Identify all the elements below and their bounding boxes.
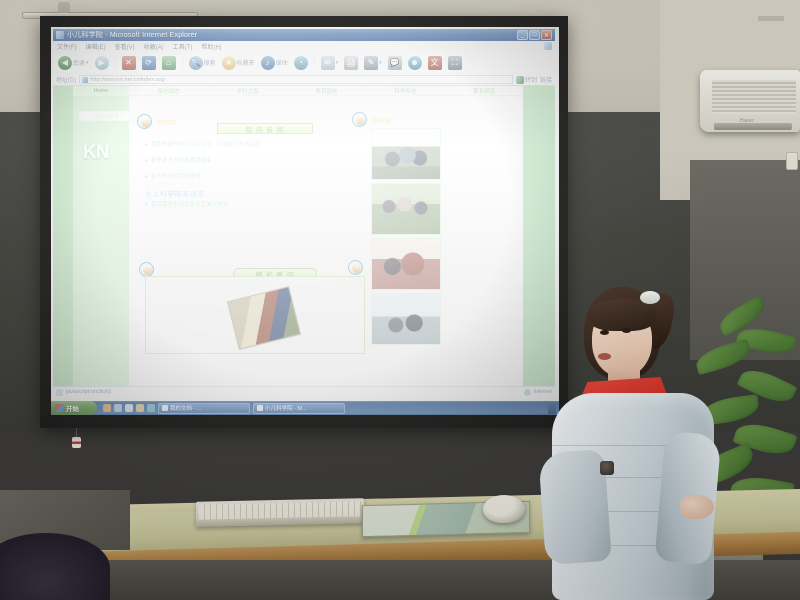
hand-on-mouse: [680, 495, 714, 519]
fullscreen-icon: ⛶: [448, 56, 462, 70]
keyboard[interactable]: [196, 498, 364, 527]
taskbar-item-label: 小儿科学院 - M...: [265, 404, 307, 412]
go-arrow-icon: [516, 76, 524, 84]
favorites-label: 收藏夹: [237, 58, 255, 67]
search-icon: 🔍: [189, 56, 203, 70]
toolbar-edit-button[interactable]: ✎ ▾: [362, 56, 384, 70]
search-label: 搜索: [204, 58, 216, 67]
discuss-icon: 💬: [388, 56, 402, 70]
stop-icon: ✕: [122, 56, 136, 70]
jacket-badge: [600, 461, 614, 475]
toolbar-separator: [314, 56, 315, 70]
ie-menu-bar: 文件(F) 编辑(E) 查看(V) 收藏(A) 工具(T) 帮助(H): [53, 41, 555, 52]
hair-scrunchie: [640, 291, 660, 304]
air-conditioner-icon: Haier: [700, 70, 800, 132]
photo-hands-up[interactable]: [371, 293, 441, 345]
menu-file[interactable]: 文件(F): [57, 42, 77, 51]
status-page-icon: [56, 389, 63, 396]
history-icon: ◔: [294, 56, 308, 70]
eye-left: [600, 330, 609, 335]
links-button[interactable]: 链接: [540, 75, 552, 84]
windows-flag-icon: [55, 404, 63, 412]
menu-help[interactable]: 帮助(H): [201, 42, 221, 51]
edit-caret-icon[interactable]: ▾: [379, 60, 382, 66]
start-button[interactable]: 开始: [51, 401, 97, 415]
mascot-left-top-label: 院内动态: [157, 119, 177, 126]
nav-item-subjects[interactable]: 学科之窗: [208, 87, 287, 95]
bullet-icon: ●: [145, 202, 148, 208]
toolbar-history-button[interactable]: ◔: [292, 56, 310, 70]
news-section-banner: 院 内 新 闻: [217, 123, 313, 134]
nav-item-home[interactable]: Home: [73, 86, 129, 96]
favorites-star-icon: ★: [222, 56, 236, 70]
translate-icon: 文: [428, 56, 442, 70]
messenger-icon: ☻: [408, 56, 422, 70]
media-label: 媒体: [276, 58, 288, 67]
toolbar-print-button[interactable]: 🖨: [342, 56, 360, 70]
photo-classroom-activity[interactable]: [371, 238, 441, 290]
featured-artwork-photo[interactable]: [227, 286, 301, 350]
ie-status-bar: javascript:onclick() Internet: [53, 386, 555, 397]
folder-icon[interactable]: [136, 404, 144, 412]
projection-screen-surface: 小儿科学院 - Microsoft Internet Explorer _ □ …: [51, 27, 559, 415]
address-url-text: http://www.kn.net.cn/index.asp: [90, 77, 164, 83]
bullet-icon: ●: [145, 174, 148, 180]
mascot-right-top-label[interactable]: 更多内容: [371, 117, 391, 124]
photo-nature-exploration[interactable]: [371, 183, 441, 235]
internet-explorer-window[interactable]: 小儿科学院 - Microsoft Internet Explorer _ □ …: [53, 29, 555, 397]
go-button[interactable]: 转到: [516, 75, 537, 84]
mouse[interactable]: [483, 495, 525, 523]
menu-edit[interactable]: 编辑(E): [86, 42, 106, 51]
bullet-icon: ●: [145, 158, 148, 164]
menu-view[interactable]: 查看(V): [115, 42, 135, 51]
links-label: 链接: [540, 75, 552, 84]
start-label: 开始: [66, 403, 79, 413]
wall-outlet: [786, 152, 798, 170]
ac-louvers: [712, 80, 796, 114]
toolbar-translate-button[interactable]: 文: [426, 56, 444, 70]
toolbar-favorites-button[interactable]: ★ 收藏夹: [220, 56, 257, 70]
keyboard-keys: [199, 501, 361, 519]
page-sidebar: 请输入关键词 KN: [73, 96, 129, 386]
window-caption-buttons: _ □ ✕: [517, 30, 553, 40]
msn-logo-icon: [544, 42, 552, 50]
address-input[interactable]: http://www.kn.net.cn/index.asp: [79, 75, 513, 84]
ie-window-icon: [257, 405, 263, 411]
mail-caret-icon[interactable]: ▾: [336, 60, 339, 66]
ac-vent: [714, 123, 792, 130]
taskbar-item-documents[interactable]: 我的文档 - ...: [158, 403, 250, 414]
hair-fringe: [588, 299, 656, 331]
toolbar-fullscreen-button[interactable]: ⛶: [446, 56, 464, 70]
site-logo-kn: KN: [83, 142, 108, 164]
mascot-right-top-icon: [352, 112, 367, 127]
messenger-launch-icon[interactable]: [147, 404, 155, 412]
toolbar-discuss-button[interactable]: 💬: [386, 56, 404, 70]
toolbar-media-button[interactable]: ♪ 媒体: [259, 56, 290, 70]
toolbar-forward-button[interactable]: ▶: [93, 56, 111, 70]
nav-item-news[interactable]: 院内动态: [129, 87, 208, 95]
toolbar-mail-button[interactable]: ✉ ▾: [319, 56, 341, 70]
photo-group-outdoor[interactable]: [371, 128, 441, 180]
wall-hook: [72, 437, 81, 448]
girl-student-presenting: [540, 283, 720, 600]
mouth: [598, 353, 611, 360]
back-label: 后退: [73, 58, 85, 67]
menu-tools[interactable]: 工具(T): [173, 42, 193, 51]
windows-taskbar: 开始 我的文档 - ... 小儿科学院 - M...: [51, 401, 559, 415]
sidebar-search-input[interactable]: 请输入关键词: [79, 111, 139, 121]
media-player-icon[interactable]: [125, 404, 133, 412]
minimize-button[interactable]: _: [517, 30, 528, 40]
page-body: Home 院内动态 学科之窗 教育园地 科学天地 家长频道 请输入关键词 KN: [73, 86, 523, 386]
quick-launch-bar: [100, 404, 155, 412]
nav-item-parents[interactable]: 家长频道: [444, 87, 523, 95]
toolbar-messenger-button[interactable]: ☻: [406, 56, 424, 70]
close-button[interactable]: ✕: [541, 30, 552, 40]
ie-page-icon: [56, 31, 64, 39]
toolbar-separator: [182, 56, 183, 70]
photo-gallery-column: [371, 128, 441, 345]
toolbar-separator: [115, 56, 116, 70]
internet-zone-icon: [524, 389, 531, 396]
taskbar-item-label: 我的文档 - ...: [170, 404, 201, 412]
news-title[interactable]: 家长开放日活动通知: [151, 172, 201, 180]
mascot-right-bottom-icon: [348, 260, 363, 275]
back-arrow-icon: ◀: [58, 56, 72, 70]
classroom-scene: Haier 小儿科学院 - Microsoft Internet Explore…: [0, 0, 800, 600]
show-desktop-icon[interactable]: [114, 404, 122, 412]
page-left-margin: [53, 86, 73, 386]
eye-right: [622, 328, 631, 333]
media-icon: ♪: [261, 56, 275, 70]
taskbar-item-browser[interactable]: 小儿科学院 - M...: [253, 403, 345, 414]
print-icon: 🖨: [344, 56, 358, 70]
mascot-left-top-icon: [137, 114, 152, 129]
menu-favorites[interactable]: 收藏(A): [144, 42, 164, 51]
ie-title-bar: 小儿科学院 - Microsoft Internet Explorer _ □ …: [53, 29, 555, 41]
maximize-button[interactable]: □: [529, 30, 540, 40]
news-title[interactable]: 我院荣获市级优秀示范单位称号: [151, 200, 228, 208]
page-main-content: 院内动态 更多内容 院 内 新 闻 ● 我院开展科学小实验活动，小朋友们热情高涨…: [133, 98, 445, 386]
mount-knob: [58, 2, 70, 13]
bullet-icon: ●: [145, 142, 148, 148]
toolbar-home-button[interactable]: ⌂: [160, 56, 178, 70]
ie-address-bar: 地址(D) http://www.kn.net.cn/index.asp 转到 …: [53, 74, 555, 86]
mail-icon: ✉: [321, 56, 335, 70]
edit-icon: ✎: [364, 56, 378, 70]
refresh-icon: ⟳: [142, 56, 156, 70]
news-title[interactable]: 春季亲子运动会圆满结束: [151, 156, 212, 164]
toolbar-stop-button[interactable]: ✕: [120, 56, 138, 70]
toolbar-search-button[interactable]: 🔍 搜索: [187, 56, 218, 70]
toolbar-refresh-button[interactable]: ⟳: [140, 56, 158, 70]
gallery-section-box: [145, 276, 365, 354]
back-caret-icon[interactable]: ▾: [86, 60, 89, 66]
site-navigation-bar: Home 院内动态 学科之窗 教育园地 科学天地 家长频道: [73, 86, 523, 96]
ie-toolbar: ◀ 后退 ▾ ▶ ✕ ⟳ ⌂ 🔍: [53, 52, 555, 74]
news-title[interactable]: 我院开展科学小实验活动，小朋友们热情高涨: [151, 140, 261, 148]
status-text: javascript:onclick(): [66, 389, 111, 395]
mascot-left-bottom-icon: [139, 262, 154, 277]
nav-item-education[interactable]: 教育园地: [287, 87, 366, 95]
nav-item-science[interactable]: 科学天地: [365, 87, 444, 95]
address-label: 地址(D): [56, 75, 76, 84]
toolbar-back-button[interactable]: ◀ 后退 ▾: [56, 56, 91, 70]
ie-launch-icon[interactable]: [103, 404, 111, 412]
go-label: 转到: [525, 75, 537, 84]
wall-sign-right: [758, 16, 784, 21]
forward-arrow-icon: ▶: [95, 56, 109, 70]
webpage-viewport: Home 院内动态 学科之窗 教育园地 科学天地 家长频道 请输入关键词 KN: [53, 86, 555, 386]
site-favicon: [82, 77, 88, 83]
folder-window-icon: [162, 405, 168, 411]
window-title: 小儿科学院 - Microsoft Internet Explorer: [67, 30, 517, 40]
home-icon: ⌂: [162, 56, 176, 70]
